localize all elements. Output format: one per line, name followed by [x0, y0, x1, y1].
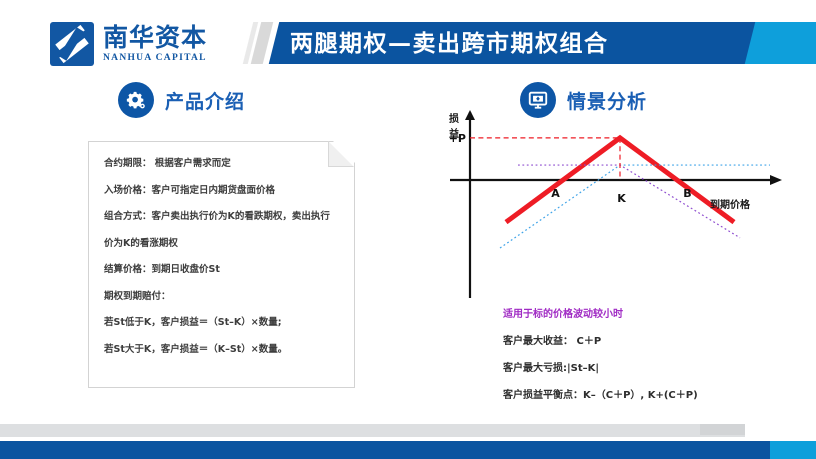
- logo-cn-text: 南华资本: [103, 25, 207, 50]
- note-line: 若St大于K，客户损益＝（K–St）×数量。: [104, 344, 350, 356]
- footer-gray-bar-tip: [700, 424, 745, 435]
- y-axis-label: 损: [449, 112, 459, 125]
- section-label-product: 产品介绍: [165, 87, 245, 114]
- x-axis-arrow: [770, 175, 782, 185]
- scenario-note: 客户损益平衡点：K–（C＋P）, K+(C＋P): [503, 389, 803, 402]
- footer-blue-bar: [0, 441, 770, 459]
- page-title: 两腿期权—卖出跨市期权组合: [290, 29, 710, 59]
- scenario-note: 客户最大收益： C＋P: [503, 335, 803, 348]
- note-line: 若St低于K，客户损益＝（St–K）×数量;: [104, 317, 350, 329]
- payoff-chart: 损益到期价格C+PAKB: [448, 108, 788, 303]
- note-line: 组合方式：客户卖出执行价为K的看跌期权，卖出执行: [104, 211, 350, 223]
- max-profit-tick-label: C+P: [448, 132, 466, 145]
- chart-point-label: K: [617, 192, 626, 205]
- note-line: 结算价格：到期日收盘价St: [104, 264, 350, 276]
- y-axis-arrow: [465, 110, 475, 120]
- header-banner-accent: [745, 22, 816, 64]
- gear-icon: [118, 82, 154, 118]
- product-note-text: 合约期限： 根据客户需求而定 入场价格：客户可指定日内期货盘面价格 组合方式：客…: [104, 158, 350, 370]
- slide-canvas: 南华资本 NANHUA CAPITAL 两腿期权—卖出跨市期权组合 产品介绍: [0, 0, 816, 459]
- footer-gray-bar: [0, 424, 745, 437]
- note-line: 期权到期赔付：: [104, 291, 350, 303]
- logo-en-text: NANHUA CAPITAL: [103, 54, 207, 64]
- company-logo: 南华资本 NANHUA CAPITAL: [50, 22, 207, 66]
- scenario-notes: 适用于标的价格波动较小时 客户最大收益： C＋P 客户最大亏损:|St–K| 客…: [503, 308, 803, 416]
- note-line: 合约期限： 根据客户需求而定: [104, 158, 350, 170]
- scenario-note: 客户最大亏损:|St–K|: [503, 362, 803, 375]
- section-header-product: 产品介绍: [118, 82, 245, 118]
- footer-blue-bar-accent: [770, 441, 816, 459]
- note-line: 入场价格：客户可指定日内期货盘面价格: [104, 185, 350, 197]
- scenario-note: 适用于标的价格波动较小时: [503, 308, 803, 321]
- chart-point-label: B: [683, 187, 691, 200]
- note-line: 价为K的看涨期权: [104, 238, 350, 250]
- chart-point-label: A: [551, 187, 560, 200]
- nanhua-parallelogram-logo: [50, 22, 94, 66]
- x-axis-label: 到期价格: [710, 198, 751, 211]
